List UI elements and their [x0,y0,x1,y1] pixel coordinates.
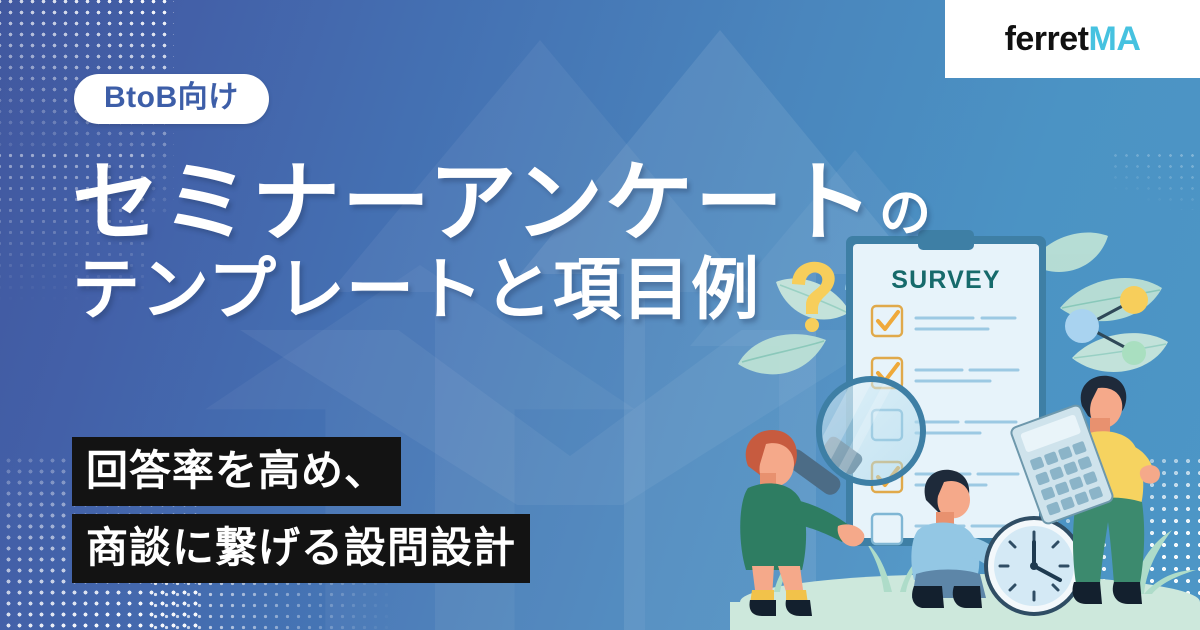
page-title-suffix: の [879,188,931,248]
brand-logo-name: ferret [1005,20,1089,58]
brand-logo-accent: MA [1089,20,1141,58]
page-subtitle-text: 回答率を高め、 [72,437,401,506]
page-title-line-1: セミナーアンケート の [72,158,931,248]
page-title-line-2: テンプレートと項目例 [72,252,931,328]
brand-logo[interactable]: ferretMA [945,0,1200,78]
page-subtitle-line: 回答率を高め、 [72,437,401,506]
page-title: セミナーアンケート の テンプレートと項目例 [72,158,931,328]
page-subtitle: 回答率を高め、 商談に繋げる設問設計 [72,437,530,591]
text-content: BtoB向け セミナーアンケート の テンプレートと項目例 回答率を高め、 商談… [0,0,1200,630]
category-badge: BtoB向け [74,74,269,124]
page-title-main: セミナーアンケート [72,158,875,248]
banner-root: SURVEY [0,0,1200,630]
page-subtitle-text: 商談に繋げる設問設計 [72,514,530,583]
page-subtitle-line: 商談に繋げる設問設計 [72,514,530,583]
brand-logo-text: ferretMA [1005,22,1141,56]
category-badge-label: BtoB向け [104,83,239,113]
